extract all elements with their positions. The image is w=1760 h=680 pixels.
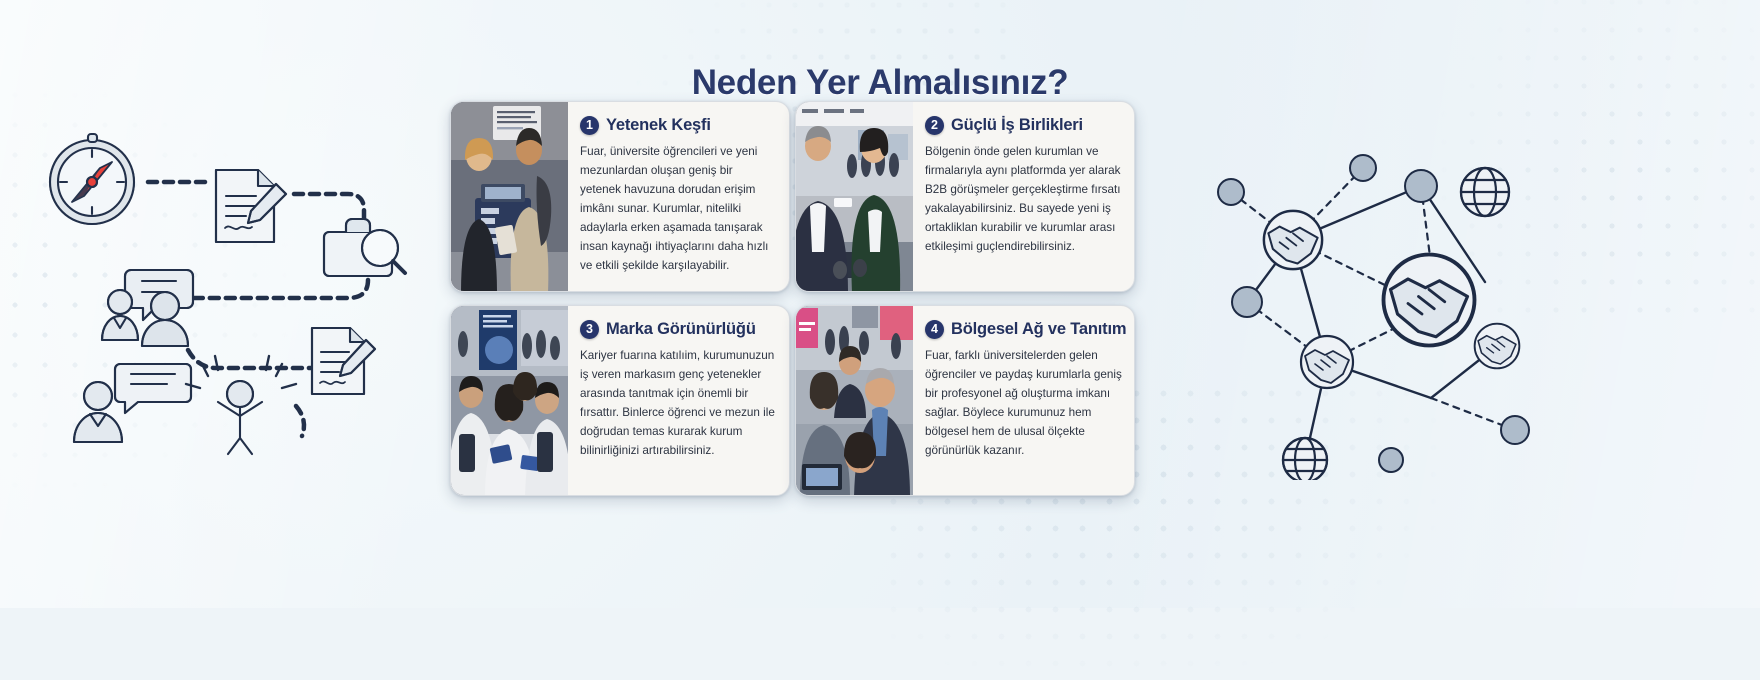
benefit-card-3-photo xyxy=(451,306,568,495)
benefit-card-1-title: Yetenek Keşfi xyxy=(606,116,711,135)
benefit-card-2[interactable]: 2 Güçlü İş Birlikleri Bölgenin önde gele… xyxy=(795,101,1135,292)
benefit-card-1-text: Fuar, üniversite öğrencileri ve yeni mez… xyxy=(580,142,776,275)
person-presentation-icon xyxy=(74,364,191,442)
briefcase-search-icon xyxy=(324,219,405,276)
people-chat-icon xyxy=(102,270,193,346)
benefit-card-1[interactable]: 1 Yetenek Keşfi Fuar, üniversite öğrenci… xyxy=(450,101,790,292)
globe-node-icon xyxy=(1283,438,1327,480)
benefit-card-1-photo xyxy=(451,102,568,291)
benefit-card-1-header: 1 Yetenek Keşfi xyxy=(580,116,776,135)
dashed-connector xyxy=(294,194,364,222)
handshake-node-icon xyxy=(1475,324,1520,369)
benefit-card-2-number-badge: 2 xyxy=(925,116,944,135)
benefit-card-4[interactable]: 4 Bölgesel Ağ ve Tanıtım Fuar, farklı ün… xyxy=(795,305,1135,496)
benefit-card-4-photo xyxy=(796,306,913,495)
benefit-card-4-header: 4 Bölgesel Ağ ve Tanıtım xyxy=(925,320,1126,339)
benefit-card-2-photo xyxy=(796,102,913,291)
compass-icon xyxy=(50,134,134,224)
benefit-card-4-text: Fuar, farklı üniversitelerden gelen öğre… xyxy=(925,346,1126,460)
benefit-card-2-text: Bölgenin önde gelen kurumlan ve firmalar… xyxy=(925,142,1121,256)
dashed-connector xyxy=(296,406,304,436)
handshake-node-icon xyxy=(1264,211,1322,269)
benefit-card-2-body: 2 Güçlü İş Birlikleri Bölgenin önde gele… xyxy=(913,102,1134,291)
benefit-card-1-number-badge: 1 xyxy=(580,116,599,135)
globe-node-icon xyxy=(1461,168,1509,216)
benefits-card-grid: 1 Yetenek Keşfi Fuar, üniversite öğrenci… xyxy=(450,101,1135,496)
benefit-card-3-header: 3 Marka Görünürlüğü xyxy=(580,320,776,339)
benefit-card-3-title: Marka Görünürlüğü xyxy=(606,320,756,339)
dashed-connector xyxy=(188,350,312,368)
benefit-card-4-title: Bölgesel Ağ ve Tanıtım xyxy=(951,320,1126,339)
document-pen-icon xyxy=(216,170,286,242)
benefit-card-1-body: 1 Yetenek Keşfi Fuar, üniversite öğrenci… xyxy=(568,102,789,291)
document-edit-icon xyxy=(312,328,375,394)
celebrating-person-icon xyxy=(186,356,296,454)
benefit-card-3-number-badge: 3 xyxy=(580,320,599,339)
benefit-card-4-number-badge: 4 xyxy=(925,320,944,339)
benefit-card-4-body: 4 Bölgesel Ağ ve Tanıtım Fuar, farklı ün… xyxy=(913,306,1135,495)
career-journey-path-illustration xyxy=(28,120,408,460)
partnership-network-illustration xyxy=(1185,130,1545,480)
page-title: Neden Yer Almalısınız? xyxy=(0,63,1760,103)
benefit-card-2-header: 2 Güçlü İş Birlikleri xyxy=(925,116,1121,135)
benefit-card-3-text: Kariyer fuarına katılıim, kurumunuzun iş… xyxy=(580,346,776,460)
benefit-card-3-body: 3 Marka Görünürlüğü Kariyer fuarına katı… xyxy=(568,306,789,495)
benefit-card-2-title: Güçlü İş Birlikleri xyxy=(951,116,1083,135)
dashed-connector xyxy=(178,280,368,298)
handshake-node-icon xyxy=(1384,255,1475,346)
handshake-node-icon xyxy=(1301,336,1353,388)
benefit-card-3[interactable]: 3 Marka Görünürlüğü Kariyer fuarına katı… xyxy=(450,305,790,496)
